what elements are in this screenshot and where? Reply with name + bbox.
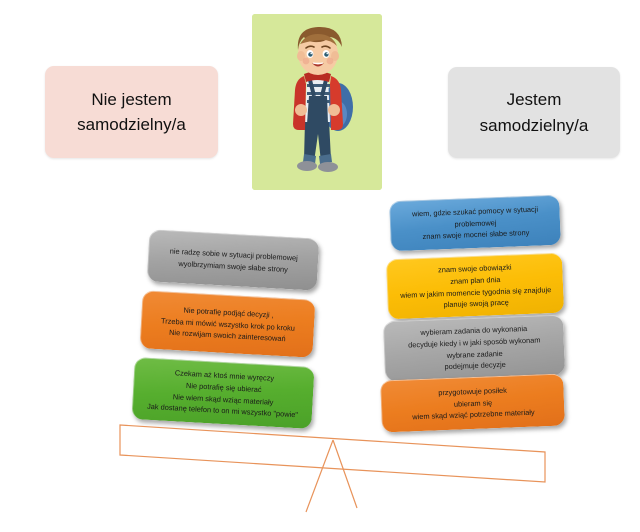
statement-card-left-1: nie radzę sobie w sytuacji problemowej w… — [147, 229, 320, 290]
header-left-text: Nie jestem samodzielny/a — [77, 87, 186, 138]
statement-card-left-2: Nie potrafię podjąć decyzji , Trzeba mi … — [140, 290, 316, 358]
balance-beam — [120, 425, 545, 482]
header-right-line2: samodzielny/a — [480, 116, 589, 135]
header-right-text: Jestem samodzielny/a — [480, 87, 589, 138]
statement-card-right-4: przygotowuje posiłek ubieram się wiem sk… — [380, 374, 565, 433]
statement-card-right-3: wybieram zadania do wykonania decyduje k… — [383, 315, 565, 382]
boy-illustration — [252, 14, 382, 190]
statement-card-right-2: znam swoje obowiązki znam plan dnia wiem… — [386, 253, 564, 320]
card-line: podejmuje decyzje — [444, 359, 506, 373]
card-line: planuje swoją pracę — [443, 297, 509, 311]
statement-card-left-3: Czekam aż ktoś mnie wyręczy Nie potrafię… — [131, 357, 314, 429]
cartoon-boy-icon — [252, 14, 382, 190]
card-line: wiem skąd wziąć potrzebne materiały — [412, 407, 535, 423]
slide-canvas: Nie jestem samodzielny/a Jestem samodzie… — [0, 0, 640, 532]
header-box-not-independent: Nie jestem samodzielny/a — [45, 66, 218, 158]
balance-fulcrum — [306, 440, 357, 512]
header-right-line1: Jestem — [507, 90, 562, 109]
header-box-independent: Jestem samodzielny/a — [448, 67, 620, 158]
card-line: znam swoje mocnei słabe strony — [422, 227, 529, 243]
header-left-line1: Nie jestem — [91, 90, 171, 109]
header-left-line2: samodzielny/a — [77, 115, 186, 134]
statement-card-right-1: wiem, gdzie szukać pomocy w sytuacji pro… — [389, 195, 561, 251]
